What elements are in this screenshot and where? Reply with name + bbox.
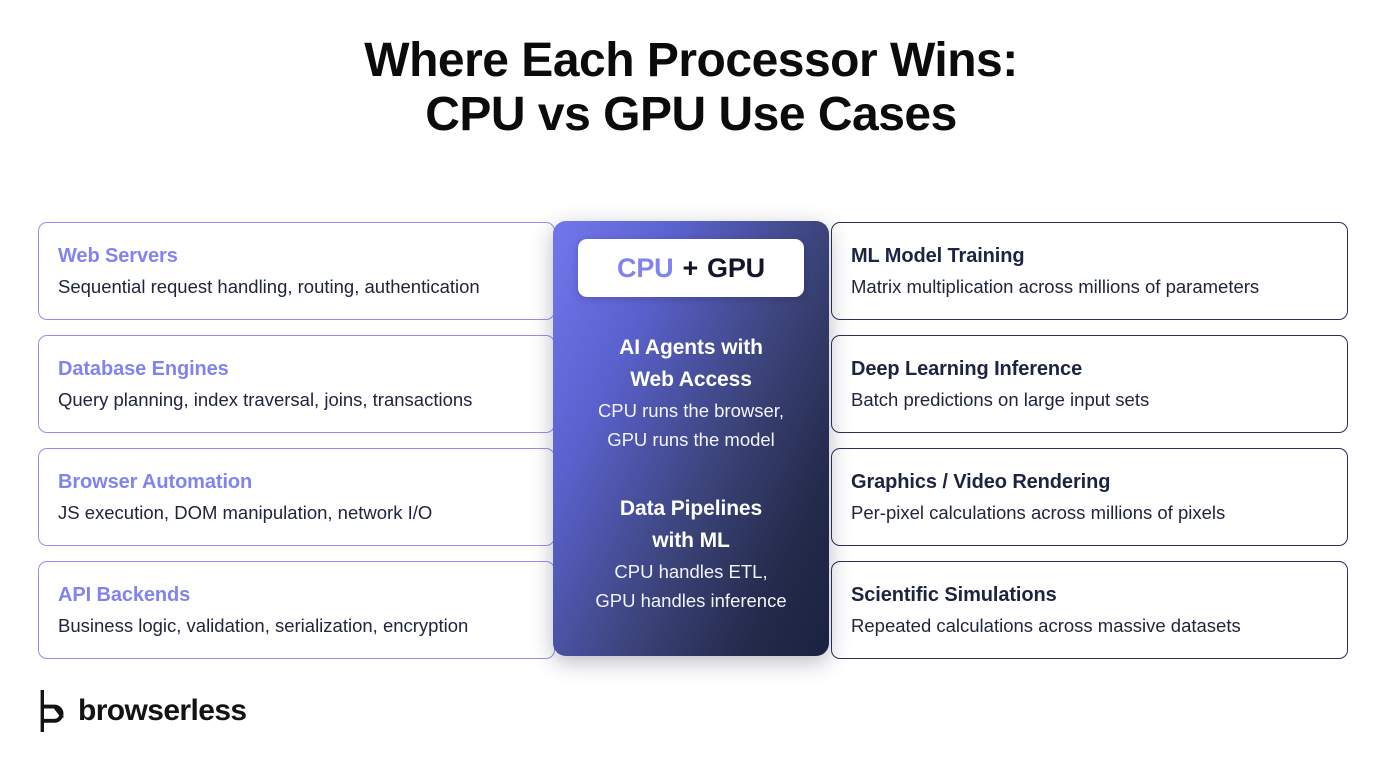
- cpu-card-web-servers[interactable]: Web Servers Sequential request handling,…: [38, 222, 555, 320]
- combo-subtitle-line-2: GPU handles inference: [553, 587, 829, 615]
- card-description: Business logic, validation, serializatio…: [58, 614, 535, 637]
- card-title: Web Servers: [58, 244, 535, 268]
- card-description: Repeated calculations across massive dat…: [851, 614, 1328, 637]
- card-description: Batch predictions on large input sets: [851, 388, 1328, 411]
- card-description: Query planning, index traversal, joins, …: [58, 388, 535, 411]
- cpu-gpu-combined-panel: CPU+GPU AI Agents with Web Access CPU ru…: [553, 221, 829, 656]
- combo-subtitle-line-1: CPU handles ETL,: [553, 558, 829, 586]
- card-title: Browser Automation: [58, 470, 535, 494]
- combo-title-line-1: AI Agents with: [553, 332, 829, 364]
- card-title: Scientific Simulations: [851, 583, 1328, 607]
- page-title: Where Each Processor Wins: CPU vs GPU Us…: [0, 34, 1382, 142]
- badge-plus-label: +: [682, 253, 698, 283]
- card-description: Sequential request handling, routing, au…: [58, 275, 535, 298]
- badge-label: CPU+GPU: [617, 253, 765, 284]
- combo-data-pipelines-with-ml: Data Pipelines with ML CPU handles ETL, …: [553, 493, 829, 615]
- brand-name: browserless: [78, 696, 247, 726]
- gpu-card-ml-model-training[interactable]: ML Model Training Matrix multiplication …: [831, 222, 1348, 320]
- cpu-card-database-engines[interactable]: Database Engines Query planning, index t…: [38, 335, 555, 433]
- page-title-line-1: Where Each Processor Wins:: [0, 34, 1382, 88]
- card-title: API Backends: [58, 583, 535, 607]
- gpu-card-deep-learning-inference[interactable]: Deep Learning Inference Batch prediction…: [831, 335, 1348, 433]
- cpu-plus-gpu-badge: CPU+GPU: [578, 239, 804, 297]
- gpu-card-scientific-simulations[interactable]: Scientific Simulations Repeated calculat…: [831, 561, 1348, 659]
- combo-title-line-2: with ML: [553, 525, 829, 557]
- page-title-line-2: CPU vs GPU Use Cases: [0, 88, 1382, 142]
- card-title: Database Engines: [58, 357, 535, 381]
- combo-subtitle-line-2: GPU runs the model: [553, 426, 829, 454]
- card-title: Deep Learning Inference: [851, 357, 1328, 381]
- cpu-column: Web Servers Sequential request handling,…: [38, 222, 555, 659]
- gpu-column: ML Model Training Matrix multiplication …: [831, 222, 1348, 659]
- browserless-b-mark-icon: [38, 690, 65, 732]
- card-title: Graphics / Video Rendering: [851, 470, 1328, 494]
- cpu-card-api-backends[interactable]: API Backends Business logic, validation,…: [38, 561, 555, 659]
- footer-brand: browserless: [38, 690, 247, 732]
- gpu-card-graphics-video-rendering[interactable]: Graphics / Video Rendering Per-pixel cal…: [831, 448, 1348, 546]
- badge-gpu-label: GPU: [707, 253, 765, 283]
- badge-cpu-label: CPU: [617, 253, 673, 283]
- combo-subtitle-line-1: CPU runs the browser,: [553, 397, 829, 425]
- card-description: JS execution, DOM manipulation, network …: [58, 501, 535, 524]
- cpu-card-browser-automation[interactable]: Browser Automation JS execution, DOM man…: [38, 448, 555, 546]
- combo-title-line-2: Web Access: [553, 364, 829, 396]
- card-description: Per-pixel calculations across millions o…: [851, 501, 1328, 524]
- combo-title-line-1: Data Pipelines: [553, 493, 829, 525]
- card-description: Matrix multiplication across millions of…: [851, 275, 1328, 298]
- combo-ai-agents-with-web-access: AI Agents with Web Access CPU runs the b…: [553, 332, 829, 454]
- card-title: ML Model Training: [851, 244, 1328, 268]
